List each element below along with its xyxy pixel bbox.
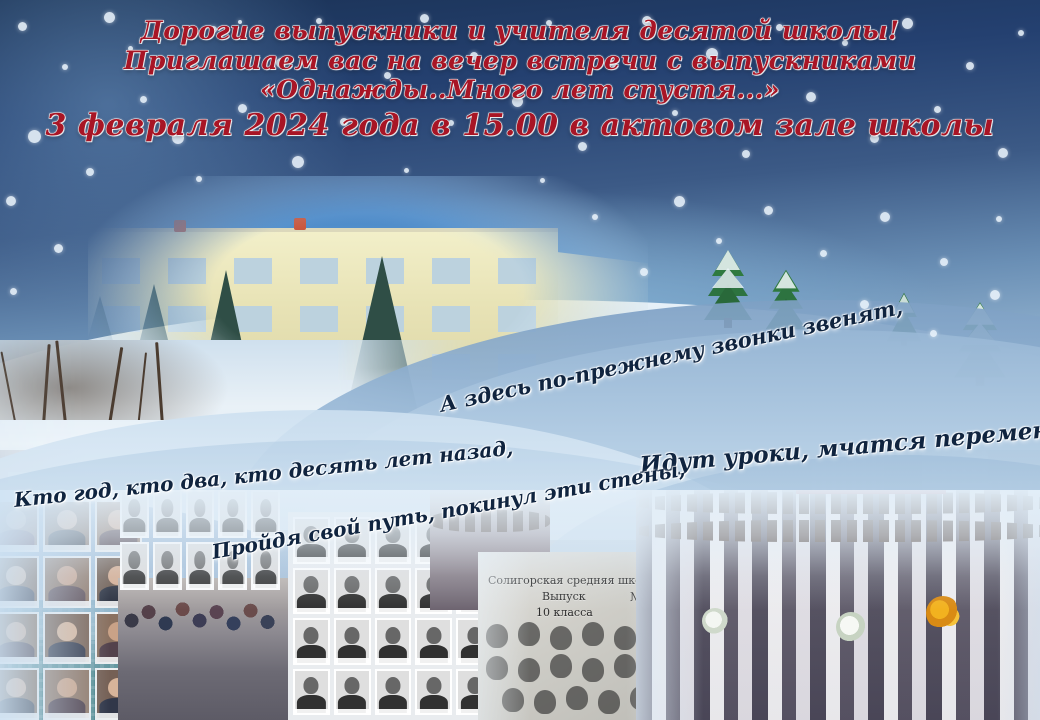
roof-ornament: [174, 220, 186, 232]
chalk-portrait: [582, 658, 604, 682]
portrait-photo: [375, 669, 412, 716]
headline-line-4: 3 февраля 2024 года в 15.00 в актовом за…: [0, 108, 1040, 143]
portrait-photo: [0, 668, 39, 720]
portrait-photo: [293, 669, 330, 716]
portrait-photo: [334, 669, 371, 716]
portrait-photo: [0, 612, 39, 664]
chalk-portrait: [550, 654, 572, 678]
bouquet: [836, 612, 866, 642]
chalk-portrait: [486, 624, 508, 648]
chalk-portrait: [614, 626, 636, 650]
chalk-portrait: [534, 690, 556, 714]
portrait-photo: [218, 490, 247, 538]
portrait-photo: [153, 542, 182, 590]
portrait-photo: [43, 668, 90, 720]
heads-row: [636, 492, 1040, 514]
portrait-photo: [43, 556, 90, 608]
chalk-portrait: [614, 654, 636, 678]
portrait-photo: [415, 669, 452, 716]
portrait-photo: [293, 568, 330, 615]
portrait-photo: [186, 542, 215, 590]
bouquet: [702, 608, 728, 634]
headline-line-1: Дорогие выпускники и учителя десятой шко…: [0, 16, 1040, 46]
invitation-poster: Солигорская средняя школа №10 Выпуск 10 …: [0, 0, 1040, 720]
crowd-of-graduates: [118, 578, 288, 720]
portrait-photo: [293, 618, 330, 665]
chalkboard-class-label: 10 класса: [536, 606, 593, 619]
chalk-portrait: [550, 626, 572, 650]
headline-block: Дорогие выпускники и учителя десятой шко…: [0, 16, 1040, 143]
portrait-photo: [153, 490, 182, 538]
photo-collage-strip: Солигорская средняя школа №10 Выпуск 10 …: [0, 490, 1040, 720]
hall-banner: У ВРЕМЕНИ НА РУБЕЖЕ: [796, 490, 946, 494]
portrait-photo: [186, 490, 215, 538]
portrait-photo: [334, 568, 371, 615]
chalk-portrait: [566, 686, 588, 710]
headline-line-2: Приглашаем вас на вечер встречи с выпуск…: [0, 46, 1040, 76]
portrait-photo: [375, 568, 412, 615]
heads-row: [636, 520, 1040, 542]
headline-line-3: «Однажды..Много лет спустя...»: [0, 75, 1040, 105]
chalk-portrait: [502, 688, 524, 712]
chalk-portrait: [598, 690, 620, 714]
chalkboard-school-name: Солигорская средняя школа: [488, 574, 655, 587]
graduation-crowd-photo: [118, 578, 288, 720]
chalk-portrait: [518, 622, 540, 646]
chalk-portrait: [518, 658, 540, 682]
portrait-photo: [375, 618, 412, 665]
portrait-photo: [415, 618, 452, 665]
portrait-photo: [43, 612, 90, 664]
roof-ornament: [294, 218, 306, 230]
portrait-photo: [120, 542, 149, 590]
chalk-portrait: [582, 622, 604, 646]
chalkboard-release-label: Выпуск: [542, 590, 586, 603]
portrait-photo: [0, 556, 39, 608]
portrait-photo: [334, 618, 371, 665]
school-group-photo: У ВРЕМЕНИ НА РУБЕЖЕ: [636, 490, 1040, 720]
chalk-portrait: [486, 656, 508, 680]
window-row: [88, 258, 558, 284]
bouquet: [926, 596, 960, 630]
